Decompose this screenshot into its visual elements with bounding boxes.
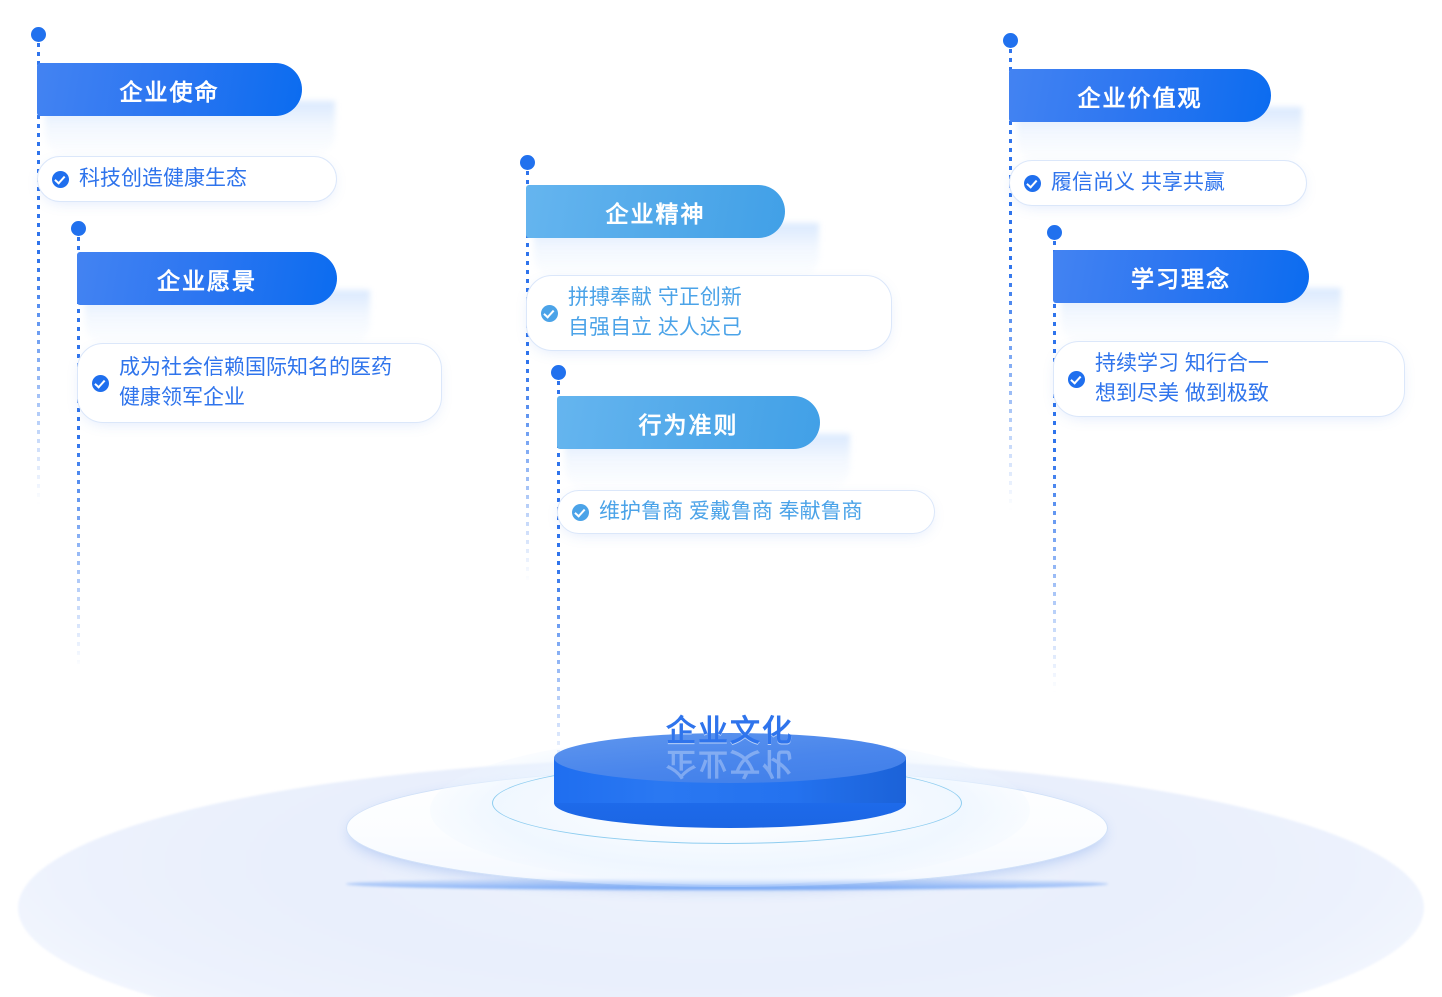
check-circle-icon (1024, 175, 1041, 192)
code-title: 行为准则 (639, 406, 739, 440)
spirit-card[interactable]: 拼搏奉献 守正创新 自强自立 达人达己 (526, 275, 892, 351)
spirit-body: 拼搏奉献 守正创新 自强自立 达人达己 (568, 283, 742, 343)
vision-body: 成为社会信赖国际知名的医药 健康领军企业 (119, 353, 392, 413)
values-card[interactable]: 履信尚义 共享共赢 (1009, 160, 1307, 206)
block-code-of-conduct: 行为准则 维护鲁商 爱戴鲁商 奉献鲁商 (557, 396, 935, 534)
learning-card[interactable]: 持续学习 知行合一 想到尽美 做到极致 (1053, 341, 1405, 417)
block-learning: 学习理念 持续学习 知行合一 想到尽美 做到极致 (1053, 250, 1405, 417)
vision-card[interactable]: 成为社会信赖国际知名的医药 健康领军企业 (77, 343, 442, 423)
mission-title: 企业使命 (120, 73, 220, 107)
center-label: 企业文化 (554, 706, 906, 750)
block-mission: 企业使命 科技创造健康生态 (37, 63, 337, 202)
spirit-title: 企业精神 (606, 195, 706, 229)
connector-dot-vision (71, 221, 86, 236)
connector-dot-mission (31, 27, 46, 42)
values-title: 企业价值观 (1078, 79, 1203, 113)
vision-title: 企业愿景 (157, 262, 257, 296)
block-values: 企业价值观 履信尚义 共享共赢 (1009, 69, 1307, 206)
connector-dot-spirit (520, 155, 535, 170)
code-body: 维护鲁商 爱戴鲁商 奉献鲁商 (599, 497, 863, 527)
learning-body: 持续学习 知行合一 想到尽美 做到极致 (1095, 349, 1269, 409)
connector-dot-values (1003, 33, 1018, 48)
code-title-pill[interactable]: 行为准则 (557, 396, 820, 449)
vision-title-pill[interactable]: 企业愿景 (77, 252, 337, 305)
mission-body: 科技创造健康生态 (79, 164, 247, 194)
learning-title-pill[interactable]: 学习理念 (1053, 250, 1309, 303)
values-title-pill[interactable]: 企业价值观 (1009, 69, 1271, 122)
connector-dot-learning (1047, 225, 1062, 240)
mission-card[interactable]: 科技创造健康生态 (37, 156, 337, 202)
block-spirit: 企业精神 拼搏奉献 守正创新 自强自立 达人达己 (526, 185, 892, 351)
learning-title: 学习理念 (1131, 260, 1231, 294)
values-body: 履信尚义 共享共赢 (1051, 168, 1225, 198)
connector-dot-code (551, 365, 566, 380)
check-circle-icon (541, 305, 558, 322)
spirit-title-pill[interactable]: 企业精神 (526, 185, 785, 238)
check-circle-icon (572, 504, 589, 521)
block-vision: 企业愿景 成为社会信赖国际知名的医药 健康领军企业 (77, 252, 442, 423)
check-circle-icon (92, 375, 109, 392)
mission-title-pill[interactable]: 企业使命 (37, 63, 302, 116)
check-circle-icon (1068, 371, 1085, 388)
code-card[interactable]: 维护鲁商 爱戴鲁商 奉献鲁商 (557, 490, 935, 534)
infographic-canvas: 企业使命 科技创造健康生态 企业愿景 成为社会信赖国际知名的医药 健康领军企业 … (0, 0, 1442, 997)
check-circle-icon (52, 171, 69, 188)
